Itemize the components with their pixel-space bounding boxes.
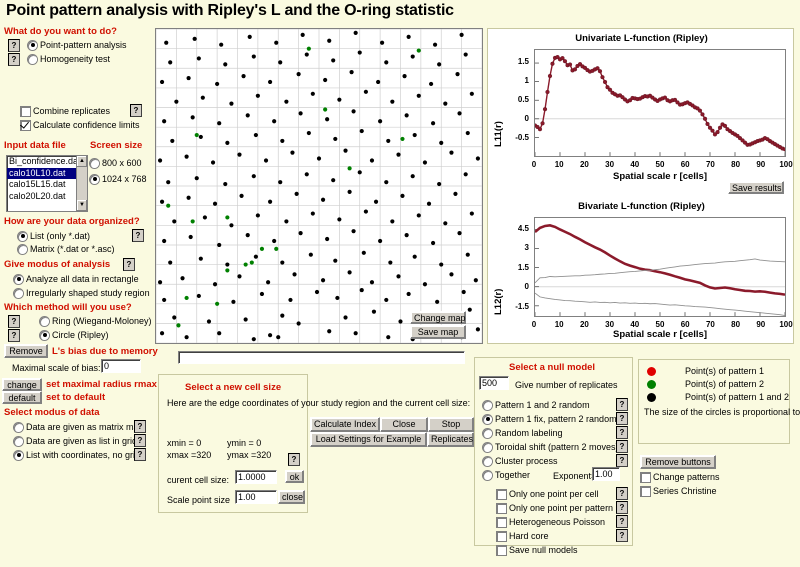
checkbox-label: Only one point per pattern — [509, 503, 613, 513]
radio-label: 800 x 600 — [102, 158, 142, 168]
black-circle-icon — [647, 393, 656, 402]
scroll-up-icon[interactable]: ▲ — [77, 156, 87, 167]
radio-label: Pattern 1 and 2 random — [495, 400, 590, 410]
legend-entry-both: Point(s) of pattern 1 and 2 — [647, 392, 789, 402]
radio-label: Together — [495, 470, 530, 480]
scale-point-size-input[interactable] — [235, 490, 277, 504]
checkbox-icon[interactable] — [641, 487, 650, 496]
ytick-label: 1.5 — [518, 57, 529, 66]
xtick-label: 90 — [756, 160, 765, 169]
xtick-label: 40 — [630, 320, 639, 329]
chart2-ytick-labels: -1.501.534.5 — [488, 29, 529, 30]
cellsize-panel: Select a new cell size Here are the edge… — [158, 374, 308, 513]
help-icon-data-organized[interactable]: ? — [132, 229, 144, 242]
change-rmax-text: set maximal radius rmax — [46, 379, 157, 390]
screen-size-group: 800 x 600 1024 x 768 — [90, 157, 147, 185]
method-header: Which method will you use? — [4, 302, 132, 313]
chart2-title: Bivariate L-function (Ripley) — [488, 201, 795, 212]
xtick-label: 50 — [656, 320, 665, 329]
legend-label: Point(s) of pattern 2 — [685, 379, 764, 389]
chart2-ylabel: L12(r) — [493, 239, 504, 315]
xtick-label: 70 — [706, 320, 715, 329]
radio-label: Point-pattern analysis — [40, 40, 127, 50]
status-input[interactable] — [178, 351, 465, 364]
radio-random-labeling[interactable]: Random labeling — [483, 427, 563, 439]
help-icon-list-coordinates[interactable]: ? — [134, 448, 146, 461]
radio-matrix-format[interactable]: Matrix (*.dat or *.asc) — [18, 243, 115, 255]
ytick-label: -0.5 — [515, 133, 529, 142]
red-circle-icon — [647, 367, 656, 376]
replicates-count-input[interactable] — [479, 376, 509, 390]
listbox-scrollbar[interactable]: ▲ ▼ — [76, 156, 87, 211]
radio-label: Ring (Wiegand-Moloney) — [52, 316, 152, 326]
radio-toroidal-shift[interactable]: Toroidal shift (pattern 2 moves) — [483, 441, 619, 453]
app-window: { "app": { "title": "Point pattern analy… — [0, 0, 800, 567]
xtick-label: 90 — [756, 320, 765, 329]
chart2-plot-area — [534, 217, 786, 317]
help-icon-circle-method[interactable]: ? — [8, 329, 20, 342]
xtick-label: 100 — [779, 320, 792, 329]
xtick-label: 70 — [706, 160, 715, 169]
current-cell-size-input[interactable] — [235, 470, 277, 484]
legend-panel: Point(s) of pattern 1 Point(s) of patter… — [638, 359, 790, 444]
page-title: Point pattern analysis with Ripley's L a… — [6, 2, 454, 20]
radio-button-icon[interactable] — [14, 275, 23, 284]
list-item[interactable]: Bi_confidence.da — [7, 156, 87, 168]
chart2-xtick-labels: 0102030405060708090100 — [488, 29, 489, 30]
checkbox-combine-replicates[interactable]: Combine replicates — [21, 105, 110, 117]
checkbox-change-patterns[interactable]: Change patterns — [641, 471, 720, 483]
help-icon-hard-core[interactable]: ? — [616, 529, 628, 542]
help-icon-homogeneity[interactable]: ? — [8, 53, 20, 66]
radio-button-icon[interactable] — [14, 451, 23, 460]
radio-button-icon[interactable] — [483, 429, 492, 438]
stop-button[interactable]: Stop — [428, 417, 474, 432]
checkbox-icon[interactable] — [21, 121, 30, 130]
modus-data-header: Select modus of data — [4, 407, 100, 418]
xtick-label: 40 — [630, 160, 639, 169]
chart1-ylabel: L11(r) — [493, 71, 504, 147]
cellsize-description: Here are the edge coordinates of your st… — [167, 398, 301, 409]
xtick-label: 10 — [555, 160, 564, 169]
help-icon-matrix-map[interactable]: ? — [134, 420, 146, 433]
replicates-count-label: Give number of replicates — [515, 380, 618, 390]
radio-label: Analyze all data in rectangle — [26, 274, 139, 284]
radio-button-icon[interactable] — [14, 423, 23, 432]
radio-ring-wiegand-moloney[interactable]: Ring (Wiegand-Moloney) — [40, 315, 152, 327]
help-icon-toroidal-shift[interactable]: ? — [616, 440, 628, 453]
point-map[interactable]: Change map Save map — [155, 28, 483, 344]
radio-button-icon[interactable] — [483, 471, 492, 480]
checkbox-icon[interactable] — [497, 518, 506, 527]
xtick-label: 100 — [779, 160, 792, 169]
radio-circle-ripley[interactable]: Circle (Ripley) — [40, 329, 109, 341]
radio-label: Matrix (*.dat or *.asc) — [30, 244, 115, 254]
legend-entry-pattern2: Point(s) of pattern 2 — [647, 379, 764, 389]
checkbox-label: Calculate confidence limits — [33, 120, 140, 130]
nullmodel-panel: Select a null model Give number of repli… — [474, 357, 633, 546]
save-map-button[interactable]: Save map — [410, 325, 466, 339]
help-icon-point-pattern[interactable]: ? — [8, 39, 20, 52]
radio-label: Homogeneity test — [40, 54, 110, 64]
green-circle-icon — [647, 380, 656, 389]
radio-label: List with coordinates, no grid — [26, 450, 140, 460]
legend-note: The size of the circles is proportional … — [644, 407, 786, 418]
legend-label: Point(s) of pattern 1 and 2 — [685, 392, 789, 402]
ymin-label: ymin = 0 — [227, 438, 261, 448]
ytick-label: -1.5 — [515, 302, 529, 311]
datafile-listbox[interactable]: Bi_confidence.da calo10L10.dat calo15L15… — [6, 155, 88, 212]
help-icon-combine-replicates[interactable]: ? — [130, 104, 142, 117]
legend-label: Point(s) of pattern 1 — [685, 366, 764, 376]
help-icon-cellsize[interactable]: ? — [288, 453, 300, 466]
maximal-scale-input[interactable] — [101, 359, 141, 373]
ytick-label: 0.5 — [518, 95, 529, 104]
xtick-label: 60 — [681, 160, 690, 169]
radio-label: Random labeling — [495, 428, 563, 438]
remove-button[interactable]: Remove — [4, 344, 48, 358]
checkbox-icon[interactable] — [497, 532, 506, 541]
radio-screen-1024x768[interactable]: 1024 x 768 — [90, 173, 147, 185]
ytick-label: 4.5 — [518, 224, 529, 233]
radio-button-icon[interactable] — [14, 437, 23, 446]
radio-label: Circle (Ripley) — [52, 330, 109, 340]
xtick-label: 30 — [605, 160, 614, 169]
radio-pattern1-and-2-random[interactable]: Pattern 1 and 2 random — [483, 399, 590, 411]
radio-button-icon[interactable] — [40, 317, 49, 326]
radio-list-in-grid[interactable]: Data are given as list in grid — [14, 435, 137, 447]
ymax-label: ymax =320 — [227, 450, 271, 460]
radio-label: Data are given as matrix map — [26, 422, 144, 432]
radio-irregular-region[interactable]: Irregularly shaped study region — [14, 287, 150, 299]
radio-button-icon[interactable] — [483, 401, 492, 410]
radio-button-icon[interactable] — [483, 443, 492, 452]
ytick-label: 0 — [525, 282, 529, 291]
ytick-label: 0 — [525, 114, 529, 123]
radio-button-icon[interactable] — [18, 245, 27, 254]
xtick-label: 20 — [580, 320, 589, 329]
chart-panel: Univariate L-function (Ripley) L11(r) -0… — [487, 28, 794, 344]
chart1-canvas — [534, 49, 786, 157]
radio-label: Irregularly shaped study region — [26, 288, 150, 298]
cellsize-header: Select a new cell size — [185, 382, 281, 393]
radio-matrix-map[interactable]: Data are given as matrix map — [14, 421, 144, 433]
list-item[interactable]: calo15L15.dat — [7, 179, 87, 191]
xtick-label: 60 — [681, 320, 690, 329]
radio-button-icon[interactable] — [28, 41, 37, 50]
radio-label: List (only *.dat) — [30, 231, 90, 241]
scale-point-size-label: Scale point size — [167, 495, 230, 505]
data-organized-header: How are your data organized? — [4, 216, 140, 227]
radio-button-icon[interactable] — [483, 415, 492, 424]
radio-button-icon[interactable] — [28, 55, 37, 64]
radio-pattern1-fix-pattern2-random[interactable]: Pattern 1 fix, pattern 2 random — [483, 413, 617, 425]
checkbox-label: Series Christine — [653, 486, 717, 496]
calculate-index-button[interactable]: Calculate Index — [310, 417, 380, 432]
save-results-button[interactable]: Save results — [728, 181, 784, 194]
checkbox-icon[interactable] — [641, 473, 650, 482]
chart1-plot-area — [534, 49, 786, 157]
input-data-file-header: Input data file — [4, 140, 66, 151]
radio-together[interactable]: Together — [483, 469, 530, 481]
radio-homogeneity-test[interactable]: Homogeneity test — [28, 53, 110, 65]
remove-buttons-button[interactable]: Remove buttons — [640, 455, 716, 469]
checkbox-save-null-models[interactable]: Save null models — [497, 544, 578, 556]
radio-button-icon[interactable] — [90, 159, 99, 168]
radio-label: Pattern 1 fix, pattern 2 random — [495, 414, 617, 424]
xmin-label: xmin = 0 — [167, 438, 201, 448]
help-icon-cluster-process[interactable]: ? — [616, 454, 628, 467]
checkbox-icon[interactable] — [497, 504, 506, 513]
screen-size-header: Screen size — [90, 140, 142, 151]
close-cellsize-button[interactable]: close — [278, 490, 305, 504]
checkbox-one-point-per-pattern[interactable]: Only one point per pattern — [497, 502, 613, 514]
exponent-label: Exponent= — [553, 471, 596, 481]
xtick-label: 10 — [555, 320, 564, 329]
checkbox-icon[interactable] — [497, 490, 506, 499]
help-icon-one-point-per-cell[interactable]: ? — [616, 487, 628, 500]
checkbox-hard-core[interactable]: Hard core — [497, 530, 549, 542]
radio-label: Cluster process — [495, 456, 558, 466]
ytick-label: 1 — [525, 76, 529, 85]
list-item[interactable]: calo10L10.dat — [7, 168, 87, 180]
exponent-input[interactable] — [592, 467, 620, 481]
radio-button-icon[interactable] — [14, 289, 23, 298]
help-icon-list-in-grid[interactable]: ? — [134, 434, 146, 447]
nullmodel-header: Select a null model — [509, 362, 595, 373]
xtick-label: 20 — [580, 160, 589, 169]
radio-label: 1024 x 768 — [102, 174, 147, 184]
map-canvas — [156, 29, 482, 343]
ytick-label: 1.5 — [518, 263, 529, 272]
xtick-label: 50 — [656, 160, 665, 169]
legend-entry-pattern1: Point(s) of pattern 1 — [647, 366, 764, 376]
ytick-label: 3 — [525, 243, 529, 252]
maximal-scale-label: Maximal scale of bias: — [12, 363, 101, 373]
xtick-label: 80 — [731, 160, 740, 169]
radio-button-icon[interactable] — [90, 175, 99, 184]
chart1-title: Univariate L-function (Ripley) — [488, 33, 795, 44]
modus-analysis-header: Give modus of analysis — [4, 259, 110, 270]
xtick-label: 80 — [731, 320, 740, 329]
current-cell-size-label: curent cell size: — [167, 475, 229, 485]
chart2-canvas — [534, 217, 786, 317]
change-rmax-button[interactable]: change — [2, 378, 42, 391]
xtick-label: 0 — [532, 160, 536, 169]
checkbox-label: Heterogeneous Poisson — [509, 517, 605, 527]
checkbox-icon[interactable] — [497, 546, 506, 555]
ok-button[interactable]: ok — [285, 470, 304, 483]
xmax-label: xmax =320 — [167, 450, 211, 460]
checkbox-icon[interactable] — [21, 107, 30, 116]
xtick-label: 0 — [532, 320, 536, 329]
help-icon-ring-method[interactable]: ? — [8, 315, 20, 328]
checkbox-calculate-confidence-limits[interactable]: Calculate confidence limits — [21, 119, 140, 131]
checkbox-label: Change patterns — [653, 472, 720, 482]
help-icon-pattern1-and-2-random[interactable]: ? — [616, 398, 628, 411]
radio-screen-800x600[interactable]: 800 x 600 — [90, 157, 147, 169]
replicates-button[interactable]: Replicates — [427, 432, 474, 447]
xtick-label: 30 — [605, 320, 614, 329]
checkbox-label: Combine replicates — [33, 106, 110, 116]
help-icon-random-labeling[interactable]: ? — [616, 426, 628, 439]
checkbox-heterogeneous-poisson[interactable]: Heterogeneous Poisson — [497, 516, 605, 528]
checkbox-label: Hard core — [509, 531, 549, 541]
radio-cluster-process[interactable]: Cluster process — [483, 455, 558, 467]
radio-analyze-rectangle[interactable]: Analyze all data in rectangle — [14, 273, 139, 285]
checkbox-label: Save null models — [509, 545, 578, 555]
radio-label: Data are given as list in grid — [26, 436, 137, 446]
bias-header: L's bias due to memory — [52, 346, 158, 357]
help-icon-one-point-per-pattern[interactable]: ? — [616, 501, 628, 514]
what-to-do-header: What do you want to do? — [4, 26, 117, 37]
help-icon-modus-analysis[interactable]: ? — [123, 258, 135, 271]
radio-point-pattern-analysis[interactable]: Point-pattern analysis — [28, 39, 127, 51]
radio-list-format[interactable]: List (only *.dat) — [18, 230, 90, 242]
set-default-button[interactable]: default — [2, 391, 42, 404]
checkbox-series-christine[interactable]: Series Christine — [641, 485, 717, 497]
radio-button-icon[interactable] — [483, 457, 492, 466]
radio-button-icon[interactable] — [18, 232, 27, 241]
change-map-button[interactable]: Change map — [410, 311, 466, 324]
set-default-text: set to default — [46, 392, 105, 403]
load-settings-button[interactable]: Load Settings for Example — [310, 432, 427, 447]
radio-list-coordinates[interactable]: List with coordinates, no grid — [14, 449, 140, 461]
help-icon-pattern1-fix[interactable]: ? — [616, 412, 628, 425]
radio-label: Toroidal shift (pattern 2 moves) — [495, 442, 619, 452]
checkbox-one-point-per-cell[interactable]: Only one point per cell — [497, 488, 599, 500]
close-button[interactable]: Close — [380, 417, 428, 432]
list-item[interactable]: calo20L20.dat — [7, 191, 87, 203]
help-icon-heterogeneous-poisson[interactable]: ? — [616, 515, 628, 528]
checkbox-label: Only one point per cell — [509, 489, 599, 499]
scroll-down-icon[interactable]: ▼ — [77, 200, 87, 211]
chart2-xlabel: Spatial scale r [cells] — [534, 329, 786, 340]
radio-button-icon[interactable] — [40, 331, 49, 340]
